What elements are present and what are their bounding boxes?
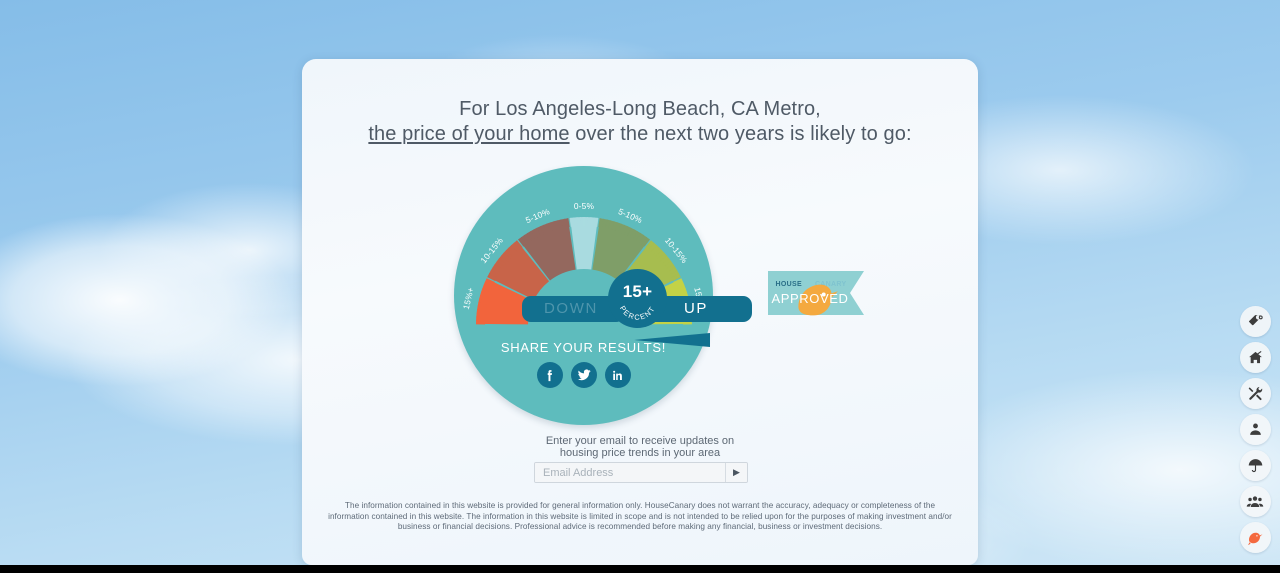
umbrella-icon: [1247, 457, 1264, 474]
rail-item-price-tag[interactable]: [1240, 306, 1271, 337]
linkedin-icon: [610, 368, 625, 383]
rail-item-house[interactable]: [1240, 342, 1271, 373]
page-title: For Los Angeles-Long Beach, CA Metro, th…: [302, 97, 978, 146]
share-facebook-button[interactable]: [537, 362, 563, 388]
share-twitter-button[interactable]: [571, 362, 597, 388]
facebook-icon: [542, 368, 557, 383]
email-submit-button[interactable]: ▶: [725, 463, 747, 482]
headline-line-2-rest: over the next two years is likely to go:: [570, 123, 912, 145]
email-label-line-2: housing price trends in your area: [302, 447, 978, 459]
gauge-label-5: 5-10%: [617, 206, 644, 225]
rail-item-person[interactable]: [1240, 414, 1271, 445]
email-capture-label: Enter your email to receive updates on h…: [302, 435, 978, 459]
disclaimer-text: The information contained in this websit…: [324, 501, 956, 533]
ribbon-status: APPROVED: [768, 291, 852, 306]
headline-emphasis: the price of your home: [368, 123, 569, 145]
share-linkedin-button[interactable]: [605, 362, 631, 388]
headline-line-1: For Los Angeles-Long Beach, CA Metro,: [459, 98, 821, 120]
housecanary-approved-ribbon: HOUSECANARY APPROVED: [768, 271, 864, 315]
house-flag-icon: [1247, 349, 1264, 366]
gauge-label-3: 5-10%: [524, 206, 551, 225]
email-label-line-1: Enter your email to receive updates on: [302, 435, 978, 447]
rail-item-people[interactable]: [1240, 486, 1271, 517]
screen-bottom-bar: [0, 565, 1280, 573]
gauge-needle: [632, 331, 712, 349]
tools-icon: [1247, 385, 1264, 402]
side-icon-rail: [1236, 306, 1274, 553]
rail-item-canary[interactable]: [1240, 522, 1271, 553]
people-icon: [1246, 493, 1264, 511]
svg-text:PERCENT: PERCENT: [618, 304, 657, 322]
twitter-icon: [576, 367, 592, 383]
rail-item-tools[interactable]: [1240, 378, 1271, 409]
share-buttons: [454, 362, 713, 388]
app-root: For Los Angeles-Long Beach, CA Metro, th…: [0, 0, 1280, 573]
gauge-center-hub: 15+ PERCENT: [608, 269, 667, 328]
canary-logo-icon: [803, 278, 814, 288]
ribbon-brand: HOUSECANARY: [768, 278, 854, 288]
email-input[interactable]: [535, 463, 725, 482]
rail-item-umbrella[interactable]: [1240, 450, 1271, 481]
email-signup-form: ▶: [534, 462, 748, 483]
person-icon: [1247, 421, 1264, 438]
gauge-label-4: 0-5%: [574, 201, 595, 211]
result-card: For Los Angeles-Long Beach, CA Metro, th…: [302, 59, 978, 565]
canary-bird-icon: [1246, 529, 1264, 547]
price-tag-icon: [1247, 313, 1264, 330]
